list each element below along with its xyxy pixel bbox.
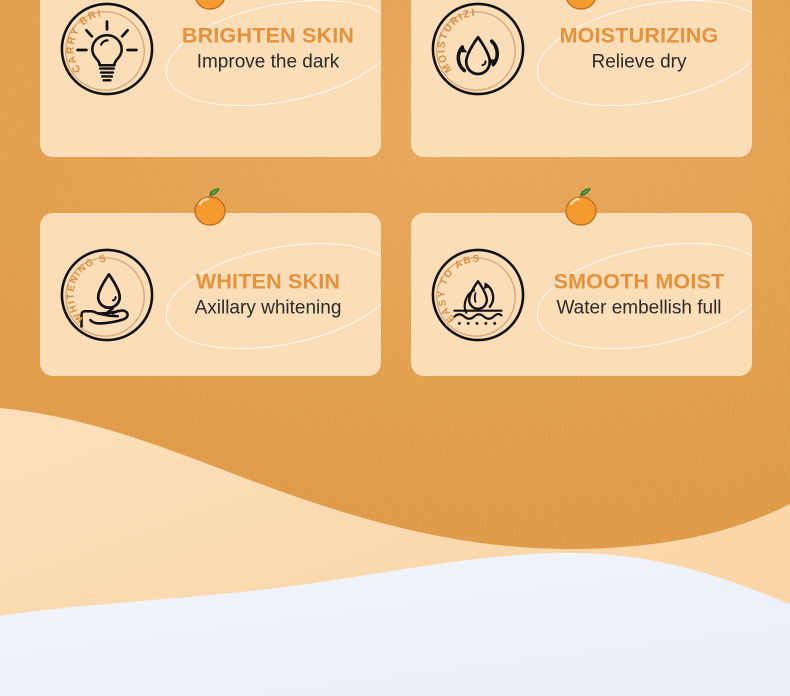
card-text-block: SMOOTH MOIST Water embellish full: [537, 268, 741, 321]
card-subtitle: Water embellish full: [537, 296, 741, 321]
card-text-block: BRIGHTEN SKIN Improve the dark: [166, 22, 370, 75]
orange-fruit-icon: [560, 0, 602, 14]
card-title: SMOOTH MOIST: [537, 268, 741, 294]
orange-fruit-icon: [189, 0, 231, 14]
banner-stage: CARRY BRIGHT BRIGHTEN SKIN Improve the d…: [0, 0, 790, 696]
feature-card-moisturizing[interactable]: MOISTURIZING MOISTURIZING Relieve dry: [411, 0, 752, 157]
lightbulb-icon: CARRY BRIGHT: [58, 0, 156, 98]
card-text-block: MOISTURIZING Relieve dry: [537, 22, 741, 75]
orange-fruit-icon: [560, 186, 602, 230]
feature-card-brighten-skin[interactable]: CARRY BRIGHT BRIGHTEN SKIN Improve the d…: [40, 0, 381, 157]
card-subtitle: Improve the dark: [166, 50, 370, 75]
card-subtitle: Axillary whitening: [166, 296, 370, 321]
feature-card-smooth-moist[interactable]: EASY TO ABSORB SMOOTH MOIST Water embell…: [411, 213, 752, 376]
hand-with-drop-icon: WHITENING SKIN: [58, 246, 156, 344]
water-drop-recycle-icon: MOISTURIZING: [429, 0, 527, 98]
card-title: BRIGHTEN SKIN: [166, 22, 370, 48]
orange-fruit-icon: [189, 186, 231, 230]
card-text-block: WHITEN SKIN Axillary whitening: [166, 268, 370, 321]
card-subtitle: Relieve dry: [537, 50, 741, 75]
feature-card-whiten-skin[interactable]: WHITENING SKIN WHITEN SKIN Axillary whit…: [40, 213, 381, 376]
card-title: WHITEN SKIN: [166, 268, 370, 294]
drop-absorb-skin-icon: EASY TO ABSORB: [429, 246, 527, 344]
card-title: MOISTURIZING: [537, 22, 741, 48]
